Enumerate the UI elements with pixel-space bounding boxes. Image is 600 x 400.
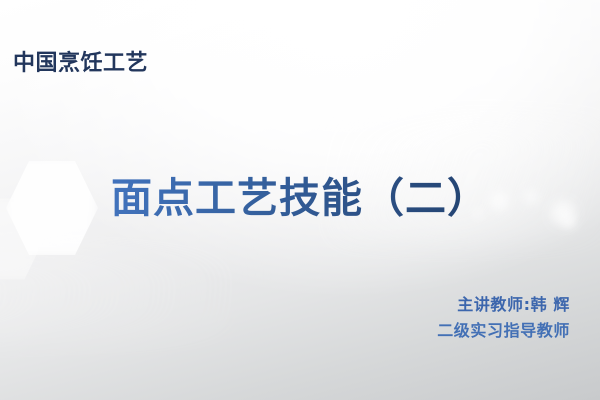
light-streak-lower-left-icon	[0, 250, 260, 340]
presenter-name-line: 主讲教师:韩 辉	[437, 292, 570, 318]
presenter-credits: 主讲教师:韩 辉 二级实习指导教师	[437, 292, 570, 345]
course-series-label: 中国烹饪工艺	[13, 45, 148, 77]
title-slide: 中国烹饪工艺 面点工艺技能（二） 主讲教师:韩 辉 二级实习指导教师	[0, 0, 600, 400]
presenter-credential-line: 二级实习指导教师	[437, 318, 570, 344]
page-title: 面点工艺技能（二）	[0, 164, 600, 224]
